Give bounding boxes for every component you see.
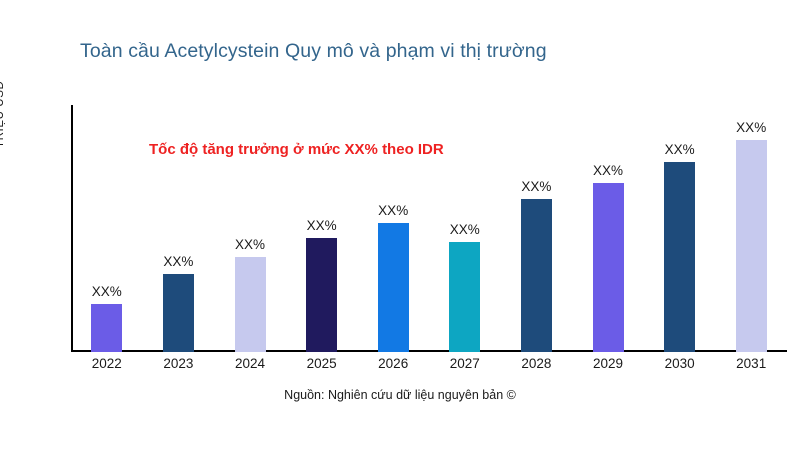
growth-rate-annotation: Tốc độ tăng trưởng ở mức XX% theo IDR (149, 141, 444, 158)
x-axis-tick-labels: 2022202320242025202620272028202920302031 (71, 356, 787, 380)
y-axis-label: TRIỆU USD (0, 28, 6, 148)
bar-group: XX% (736, 105, 767, 352)
x-tick-label: 2022 (92, 356, 122, 371)
bar-value-label: XX% (736, 120, 766, 135)
x-tick-label: 2027 (450, 356, 480, 371)
x-tick-label: 2024 (235, 356, 265, 371)
bar-value-label: XX% (593, 163, 623, 178)
bar (306, 238, 337, 352)
bar (593, 183, 624, 352)
x-tick-label: 2023 (163, 356, 193, 371)
chart-page: Toàn cầu Acetylcystein Quy mô và phạm vi… (0, 0, 800, 450)
x-tick-label: 2026 (378, 356, 408, 371)
bar (664, 162, 695, 352)
bar-value-label: XX% (521, 179, 551, 194)
bar (449, 242, 480, 352)
x-tick-label: 2025 (307, 356, 337, 371)
bar-value-label: XX% (235, 237, 265, 252)
bar-value-label: XX% (92, 284, 122, 299)
bar (235, 257, 266, 352)
bar-group: XX% (521, 105, 552, 352)
bar (91, 304, 122, 352)
x-tick-label: 2031 (736, 356, 766, 371)
x-tick-label: 2030 (665, 356, 695, 371)
x-tick-label: 2028 (521, 356, 551, 371)
bar-group: XX% (449, 105, 480, 352)
bar-value-label: XX% (307, 218, 337, 233)
bar-value-label: XX% (163, 254, 193, 269)
bar (521, 199, 552, 352)
bar-group: XX% (593, 105, 624, 352)
x-tick-label: 2029 (593, 356, 623, 371)
bar-value-label: XX% (378, 203, 408, 218)
bar-group: XX% (664, 105, 695, 352)
bar-value-label: XX% (450, 222, 480, 237)
bar (378, 223, 409, 352)
page-title: Toàn cầu Acetylcystein Quy mô và phạm vi… (80, 40, 547, 63)
bar (163, 274, 194, 352)
bar (736, 140, 767, 352)
bar-value-label: XX% (665, 142, 695, 157)
source-caption: Nguồn: Nghiên cứu dữ liệu nguyên bản © (0, 388, 800, 402)
bar-group: XX% (91, 105, 122, 352)
